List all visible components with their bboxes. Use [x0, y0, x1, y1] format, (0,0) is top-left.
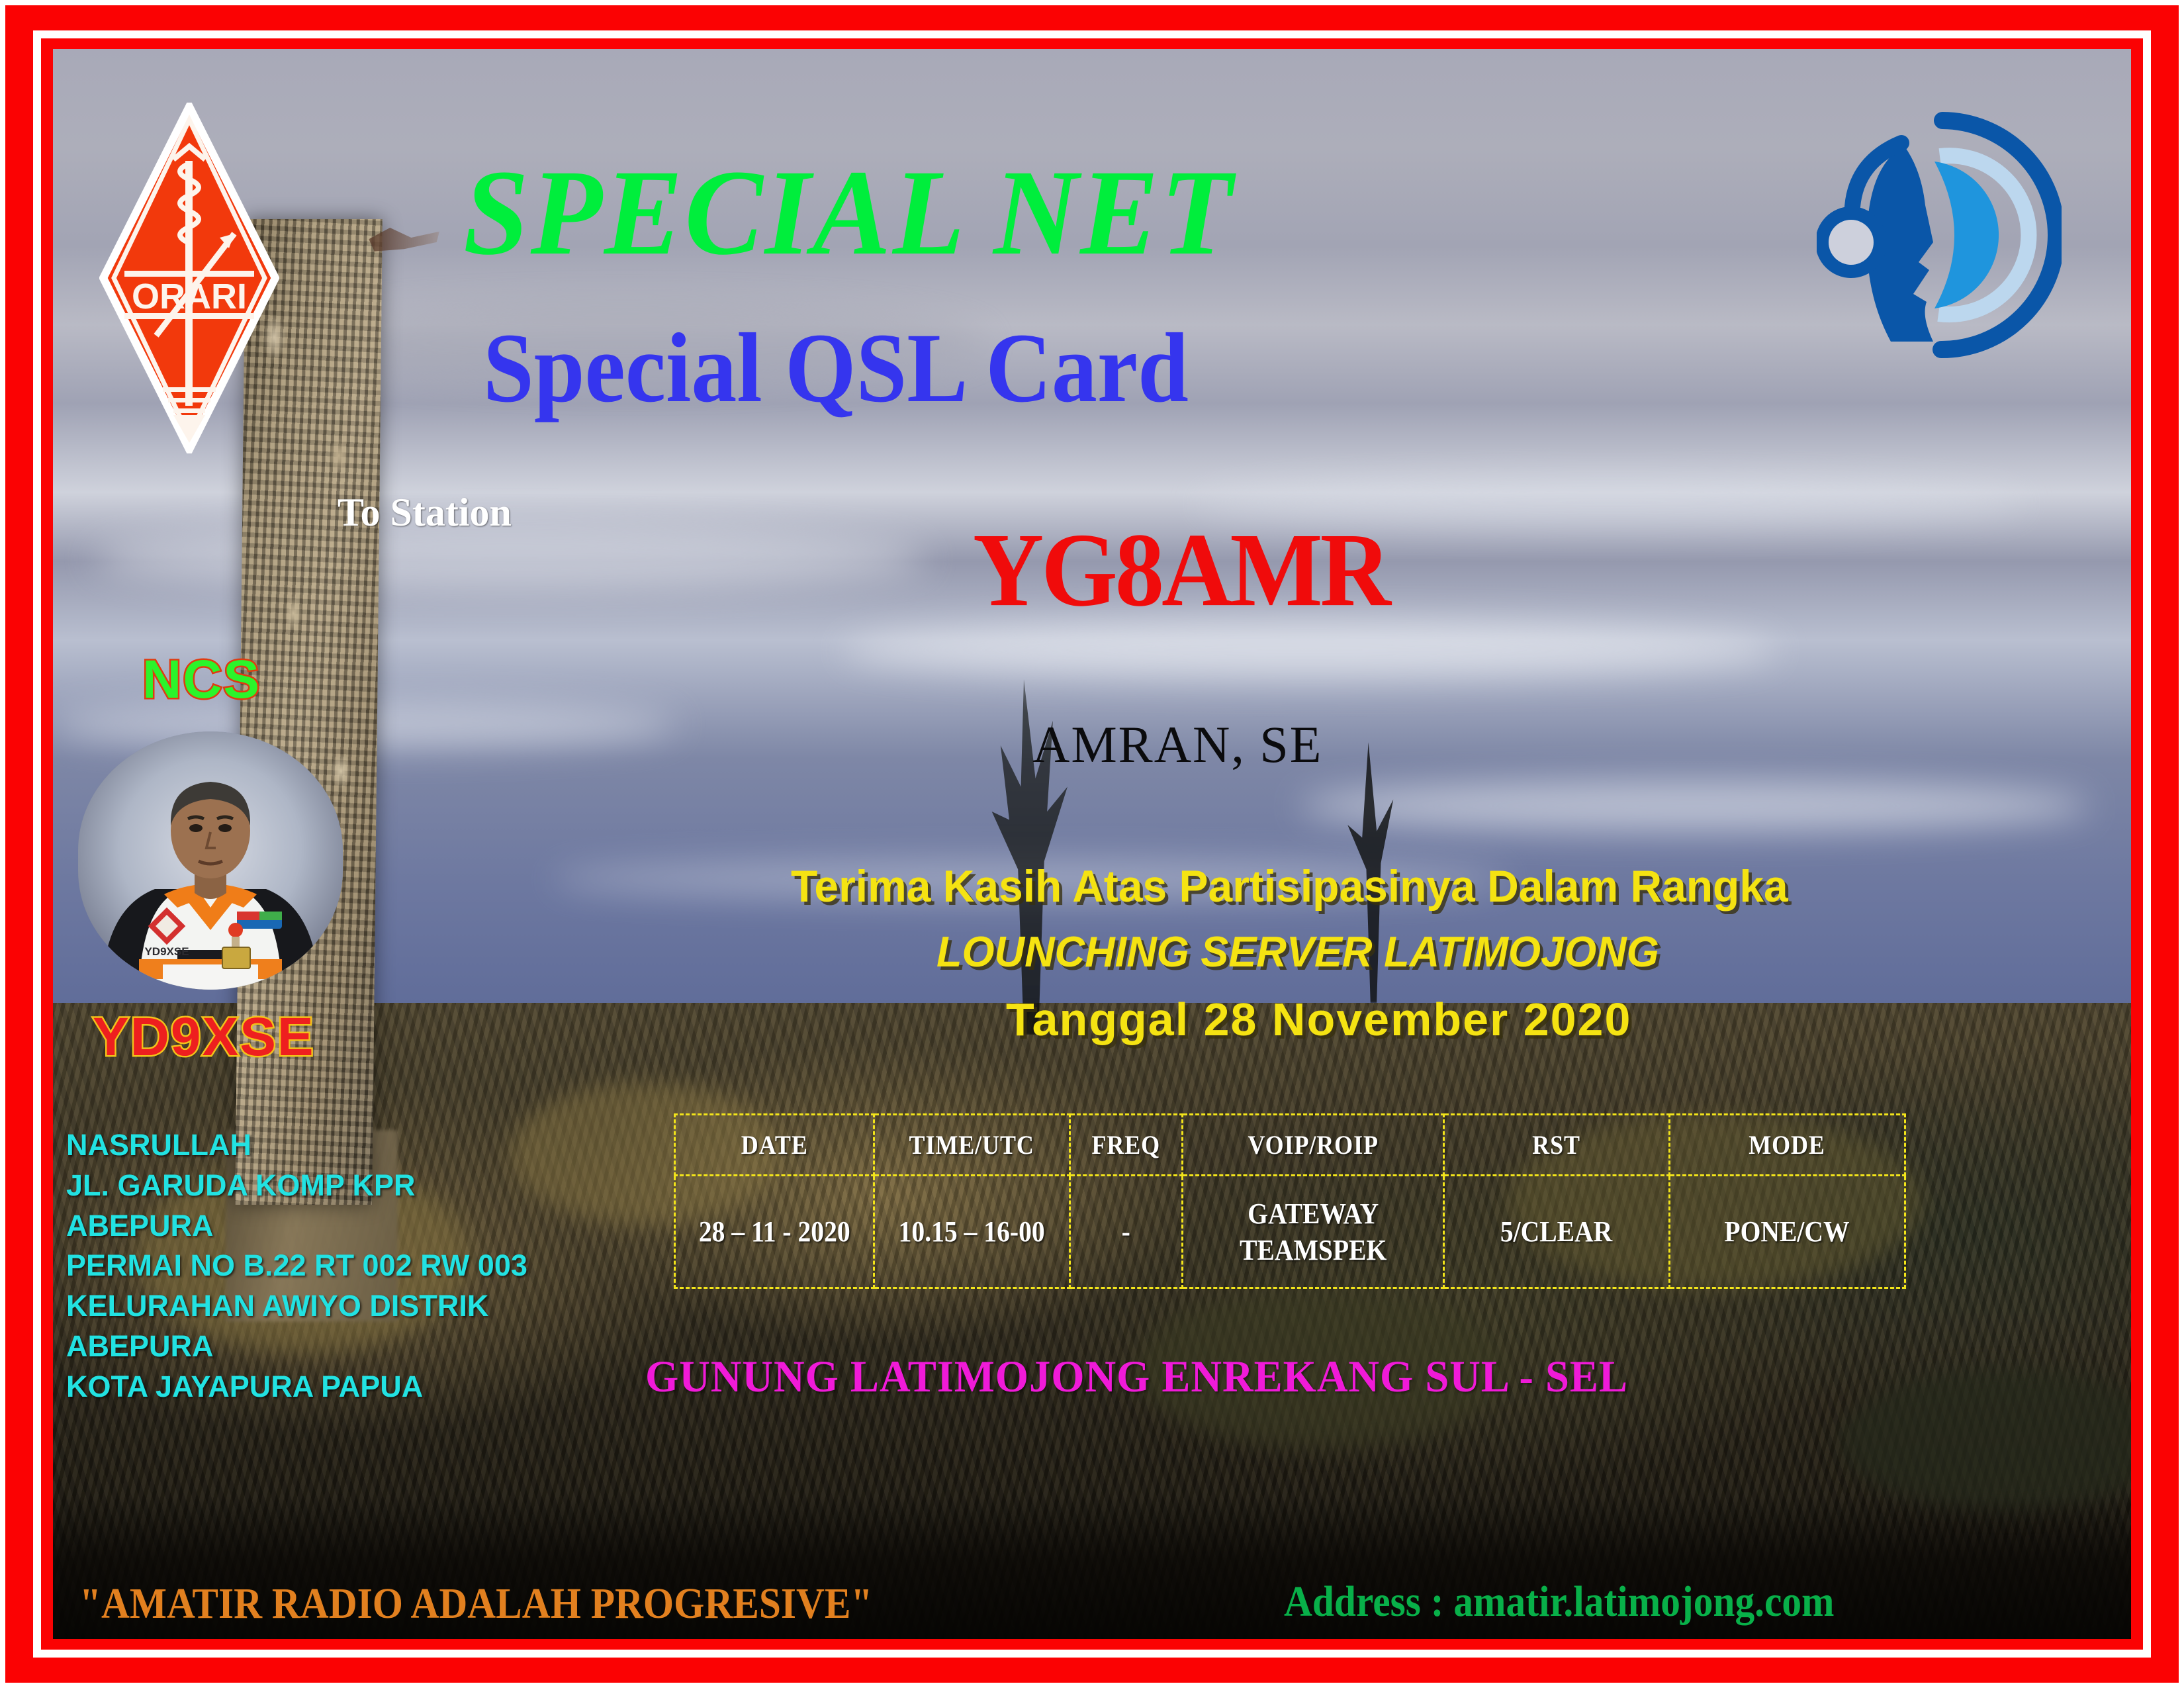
column-header-rst: RST — [1455, 1115, 1658, 1176]
ncs-operator-photo: YD9XSE — [78, 731, 343, 990]
address-line: KOTA JAYAPURA PAPUA — [66, 1367, 609, 1407]
cell-voip-line1: GATEWAY — [1197, 1196, 1430, 1232]
orari-logo-text: ORARI — [132, 277, 247, 316]
event-date-line: Tanggal 28 November 2020 — [1006, 993, 1631, 1046]
operator-name: AMRAN, SE — [1032, 715, 1322, 774]
station-address-block: NASRULLAH JL. GARUDA KOMP KPR ABEPURA PE… — [66, 1125, 609, 1407]
column-header-voip: VOIP/ROIP — [1196, 1115, 1431, 1176]
cloud-streak — [1300, 780, 2089, 831]
cell-date: 28 – 11 - 2020 — [685, 1176, 864, 1288]
column-header-time: TIME/UTC — [884, 1115, 1060, 1176]
event-subject-line: LOUNCHING SERVER LATIMOJONG — [936, 927, 1659, 976]
cell-time: 10.15 – 16-00 — [884, 1176, 1060, 1288]
table-row: 28 – 11 - 2020 10.15 – 16-00 - GATEWAY T… — [675, 1176, 1905, 1288]
to-station-label: To Station — [338, 490, 512, 536]
ncs-callsign: YD9XSE — [93, 1006, 315, 1068]
page-subtitle: Special QSL Card — [483, 311, 1189, 425]
headphone-face-radio-logo — [1817, 106, 2062, 364]
cell-voip-line2: TEAMSPEK — [1197, 1232, 1430, 1268]
cell-rst: 5/CLEAR — [1455, 1176, 1658, 1288]
footer-slogan: "AMATIR RADIO ADALAH PROGRESIVE" — [79, 1579, 873, 1629]
event-thanks-line: Terima Kasih Atas Partisipasinya Dalam R… — [791, 861, 1788, 912]
address-line: NASRULLAH — [66, 1125, 609, 1166]
station-callsign: YG8AMR — [973, 510, 1388, 630]
shirt-callsign-text: YD9XSE — [144, 945, 189, 958]
address-line: ABEPURA — [66, 1327, 609, 1367]
cell-mode: PONE/CW — [1681, 1176, 1893, 1288]
cloud-streak — [95, 526, 926, 590]
page-title: SPECIAL NET — [463, 142, 1234, 283]
address-line: ABEPURA — [66, 1206, 609, 1246]
table-header-row: DATE TIME/UTC FREQ VOIP/ROIP RST MODE — [675, 1115, 1905, 1176]
address-line: JL. GARUDA KOMP KPR — [66, 1166, 609, 1206]
cell-voip: GATEWAY TEAMSPEK — [1196, 1176, 1431, 1288]
column-header-freq: FREQ — [1075, 1115, 1177, 1176]
qso-details-table: DATE TIME/UTC FREQ VOIP/ROIP RST MODE 28… — [674, 1113, 1906, 1289]
location-caption: GUNUNG LATIMOJONG ENREKANG SUL - SEL — [645, 1350, 1628, 1403]
address-line: PERMAI NO B.22 RT 002 RW 003 — [66, 1246, 609, 1286]
address-line: KELURAHAN AWIYO DISTRIK — [66, 1286, 609, 1327]
footer-web-address: Address : amatir.latimojong.com — [1284, 1577, 1835, 1627]
orari-logo: ORARI — [99, 103, 279, 453]
ncs-label: NCS — [142, 649, 261, 711]
cell-freq: - — [1075, 1176, 1177, 1288]
column-header-date: DATE — [685, 1115, 864, 1176]
qsl-card: ORARI SPECIAL NET Special QSL Card T — [0, 0, 2184, 1688]
column-header-mode: MODE — [1681, 1115, 1893, 1176]
